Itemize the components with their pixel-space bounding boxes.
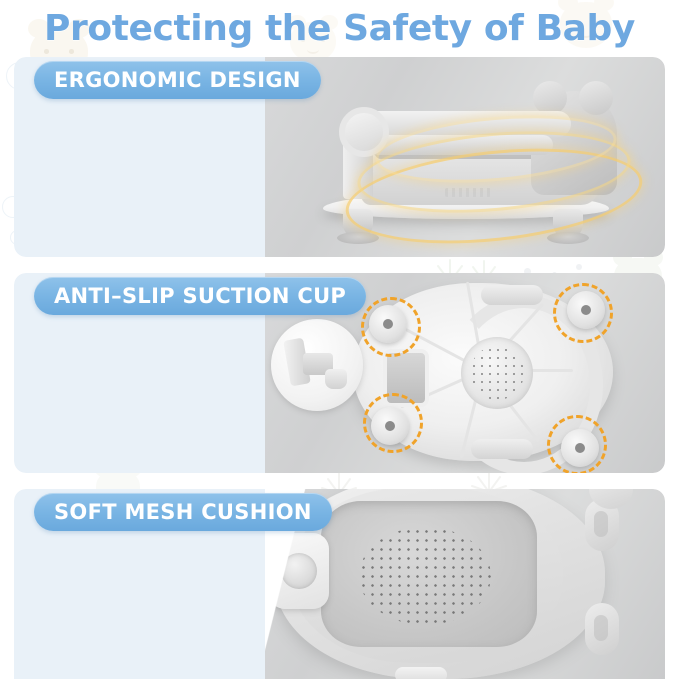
inset-knob xyxy=(325,369,347,389)
suction-cup-highlight-ring xyxy=(361,297,421,357)
underside-tab-top xyxy=(481,285,543,305)
baby-bath-seat-illustration xyxy=(317,77,617,245)
underside-tab-bottom xyxy=(471,439,533,459)
badge-anti-slip-suction-cup[interactable]: ANTI–SLIP SUCTION CUP xyxy=(34,277,366,315)
page-title: Protecting the Safety of Baby xyxy=(0,2,679,54)
drain-holes-pattern xyxy=(470,346,524,400)
badge-soft-mesh-cushion[interactable]: SOFT MESH CUSHION xyxy=(34,493,332,531)
suction-cup-highlight-ring xyxy=(363,393,423,453)
mesh-cushion-perforations xyxy=(359,527,491,625)
tub-nub-bottom xyxy=(395,667,447,679)
bath-seat-underside-illustration xyxy=(353,283,613,461)
suction-cup-highlight-ring xyxy=(547,415,607,473)
panel-1-product-image xyxy=(265,57,665,257)
underside-drain-hub xyxy=(461,337,533,409)
suction-cup-highlight-ring xyxy=(553,283,613,343)
suction-cup-detail-inset xyxy=(271,319,363,411)
speck-c xyxy=(576,264,582,270)
badge-ergonomic-design[interactable]: ERGONOMIC DESIGN xyxy=(34,61,321,99)
tub-side-fin-lower xyxy=(585,603,619,655)
infographic-page: Protecting the Safety of Baby xyxy=(0,0,679,679)
